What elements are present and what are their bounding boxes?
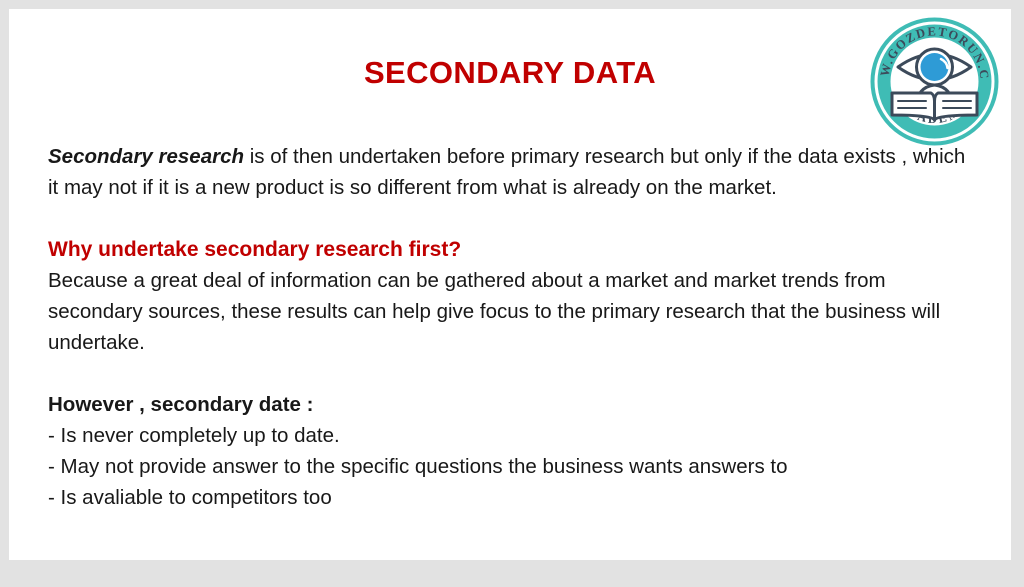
limitations-list: - Is never completely up to date. - May … — [48, 420, 978, 513]
gozdetorun-academy-logo: WWW.GOZDETORUN.COM ACADEMY — [868, 15, 1001, 148]
slide-frame: SECONDARY DATA WWW.GOZDETORUN.COM ACADEM… — [0, 0, 1024, 587]
paragraph-spacer-2 — [48, 358, 978, 389]
however-label: However , secondary date : — [48, 389, 978, 420]
section-heading-why-undertake: Why undertake secondary research first? — [48, 234, 978, 265]
paragraph-secondary-research: Secondary research is of then undertaken… — [48, 141, 978, 203]
slide-body: Secondary research is of then undertaken… — [48, 141, 978, 513]
paragraph-spacer-1 — [48, 203, 978, 234]
list-item: - May not provide answer to the specific… — [48, 451, 978, 482]
list-item: - Is never completely up to date. — [48, 420, 978, 451]
slide-canvas: SECONDARY DATA WWW.GOZDETORUN.COM ACADEM… — [9, 9, 1011, 560]
paragraph-because: Because a great deal of information can … — [48, 265, 978, 358]
page-title: SECONDARY DATA — [9, 55, 1011, 91]
list-item: - Is avaliable to competitors too — [48, 482, 978, 513]
lead-term-secondary-research: Secondary research — [48, 145, 244, 168]
